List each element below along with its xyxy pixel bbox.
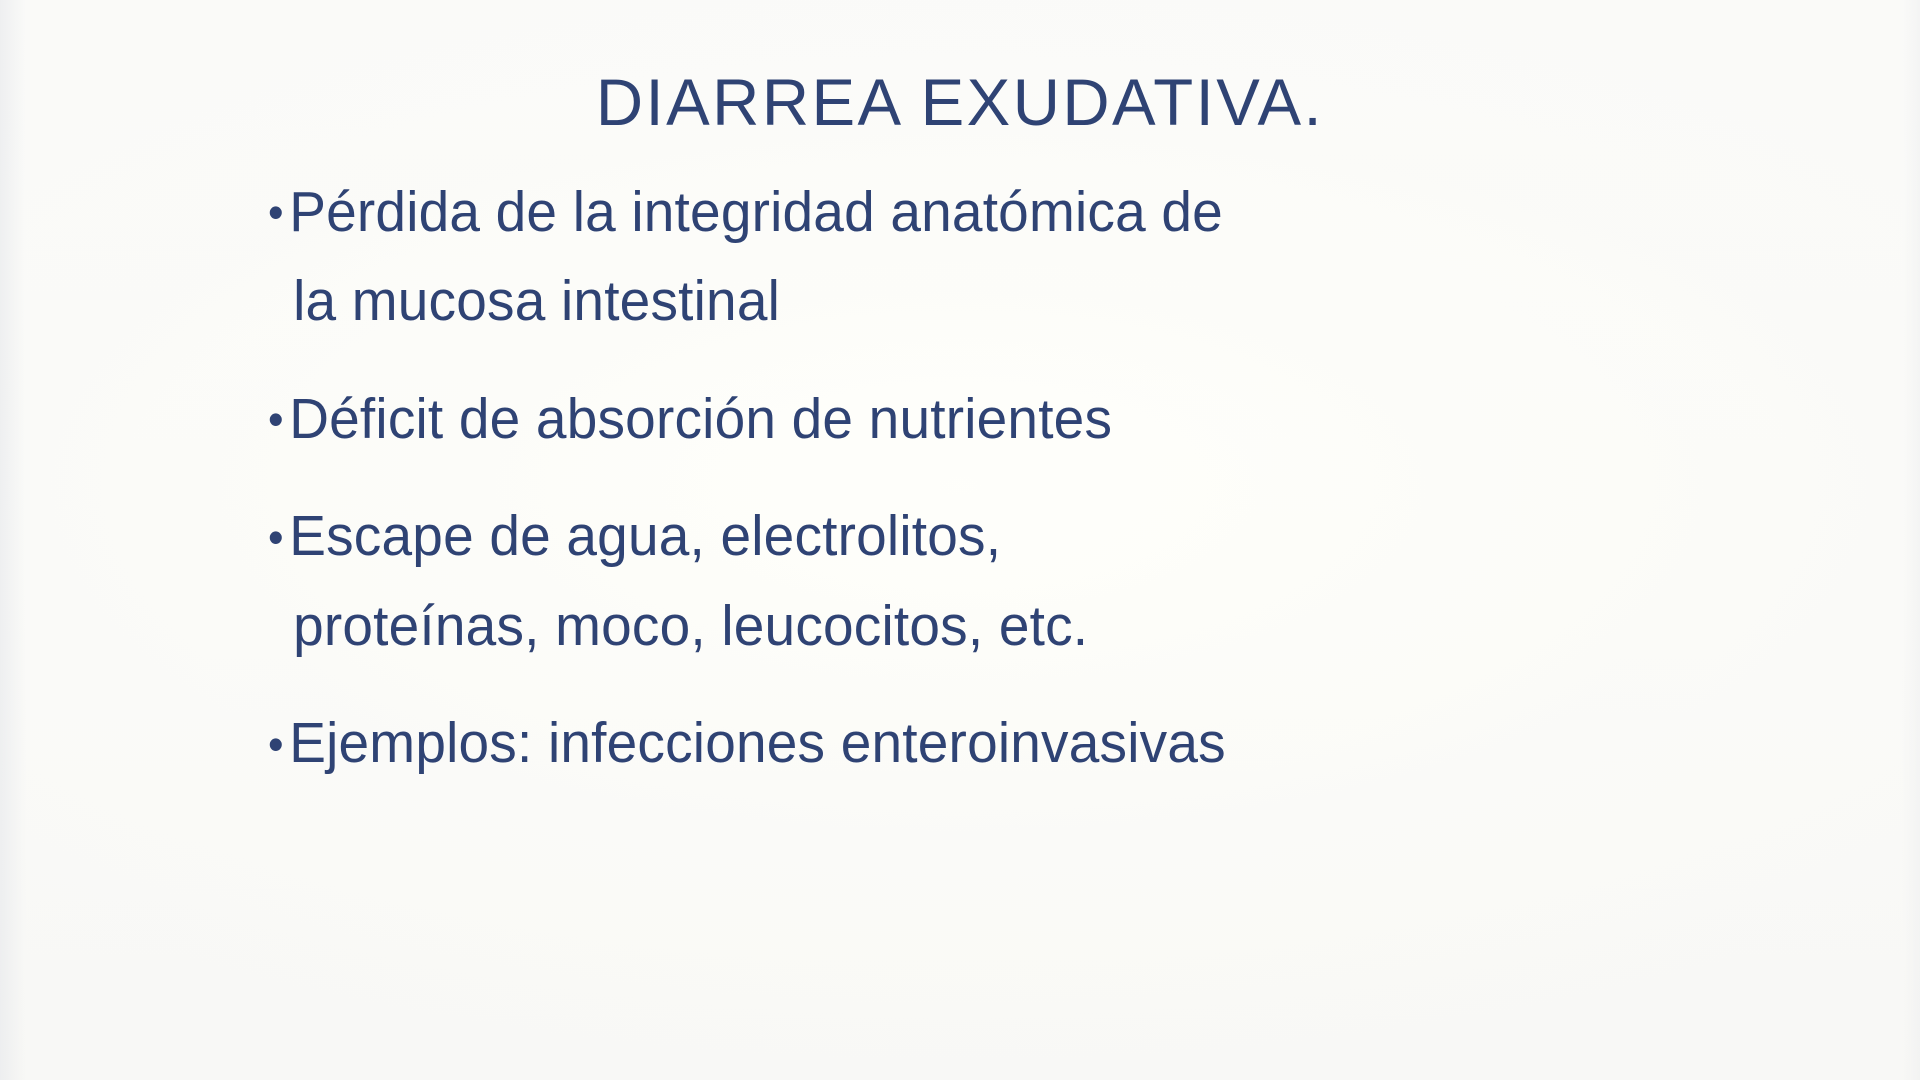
bullet-line: •Escape de agua, electrolitos, bbox=[268, 492, 1716, 581]
bullet-item-2: •Déficit de absorción de nutrientes bbox=[268, 375, 1716, 464]
bullet-text: Escape de agua, electrolitos, bbox=[289, 504, 1001, 568]
bullet-line: •Déficit de absorción de nutrientes bbox=[268, 375, 1716, 464]
bullet-list: •Pérdida de la integridad anatómica de l… bbox=[268, 168, 1768, 789]
slide-title: DIARREA EXUDATIVA. bbox=[10, 64, 1911, 140]
bullet-dot-icon: • bbox=[268, 396, 289, 442]
slide-canvas: DIARREA EXUDATIVA. •Pérdida de la integr… bbox=[0, 0, 1920, 1080]
bullet-text: Pérdida de la integridad anatómica de bbox=[289, 180, 1223, 244]
bullet-item-4: •Ejemplos: infecciones enteroinvasivas bbox=[268, 699, 1716, 788]
bullet-dot-icon: • bbox=[268, 189, 289, 235]
bullet-line: •Ejemplos: infecciones enteroinvasivas bbox=[268, 699, 1716, 788]
bullet-text: Déficit de absorción de nutrientes bbox=[289, 387, 1112, 451]
bullet-item-1: •Pérdida de la integridad anatómica de l… bbox=[268, 168, 1716, 347]
bullet-dot-icon: • bbox=[268, 514, 289, 560]
bullet-text: Ejemplos: infecciones enteroinvasivas bbox=[289, 711, 1226, 775]
bullet-line: •Pérdida de la integridad anatómica de bbox=[268, 168, 1716, 257]
bullet-line-continued: la mucosa intestinal bbox=[268, 257, 1716, 346]
bullet-line-continued: proteínas, moco, leucocitos, etc. bbox=[268, 582, 1716, 671]
bullet-dot-icon: • bbox=[268, 721, 289, 767]
slide-content: DIARREA EXUDATIVA. •Pérdida de la integr… bbox=[0, 0, 1920, 1080]
bullet-item-3: •Escape de agua, electrolitos, proteínas… bbox=[268, 492, 1716, 671]
